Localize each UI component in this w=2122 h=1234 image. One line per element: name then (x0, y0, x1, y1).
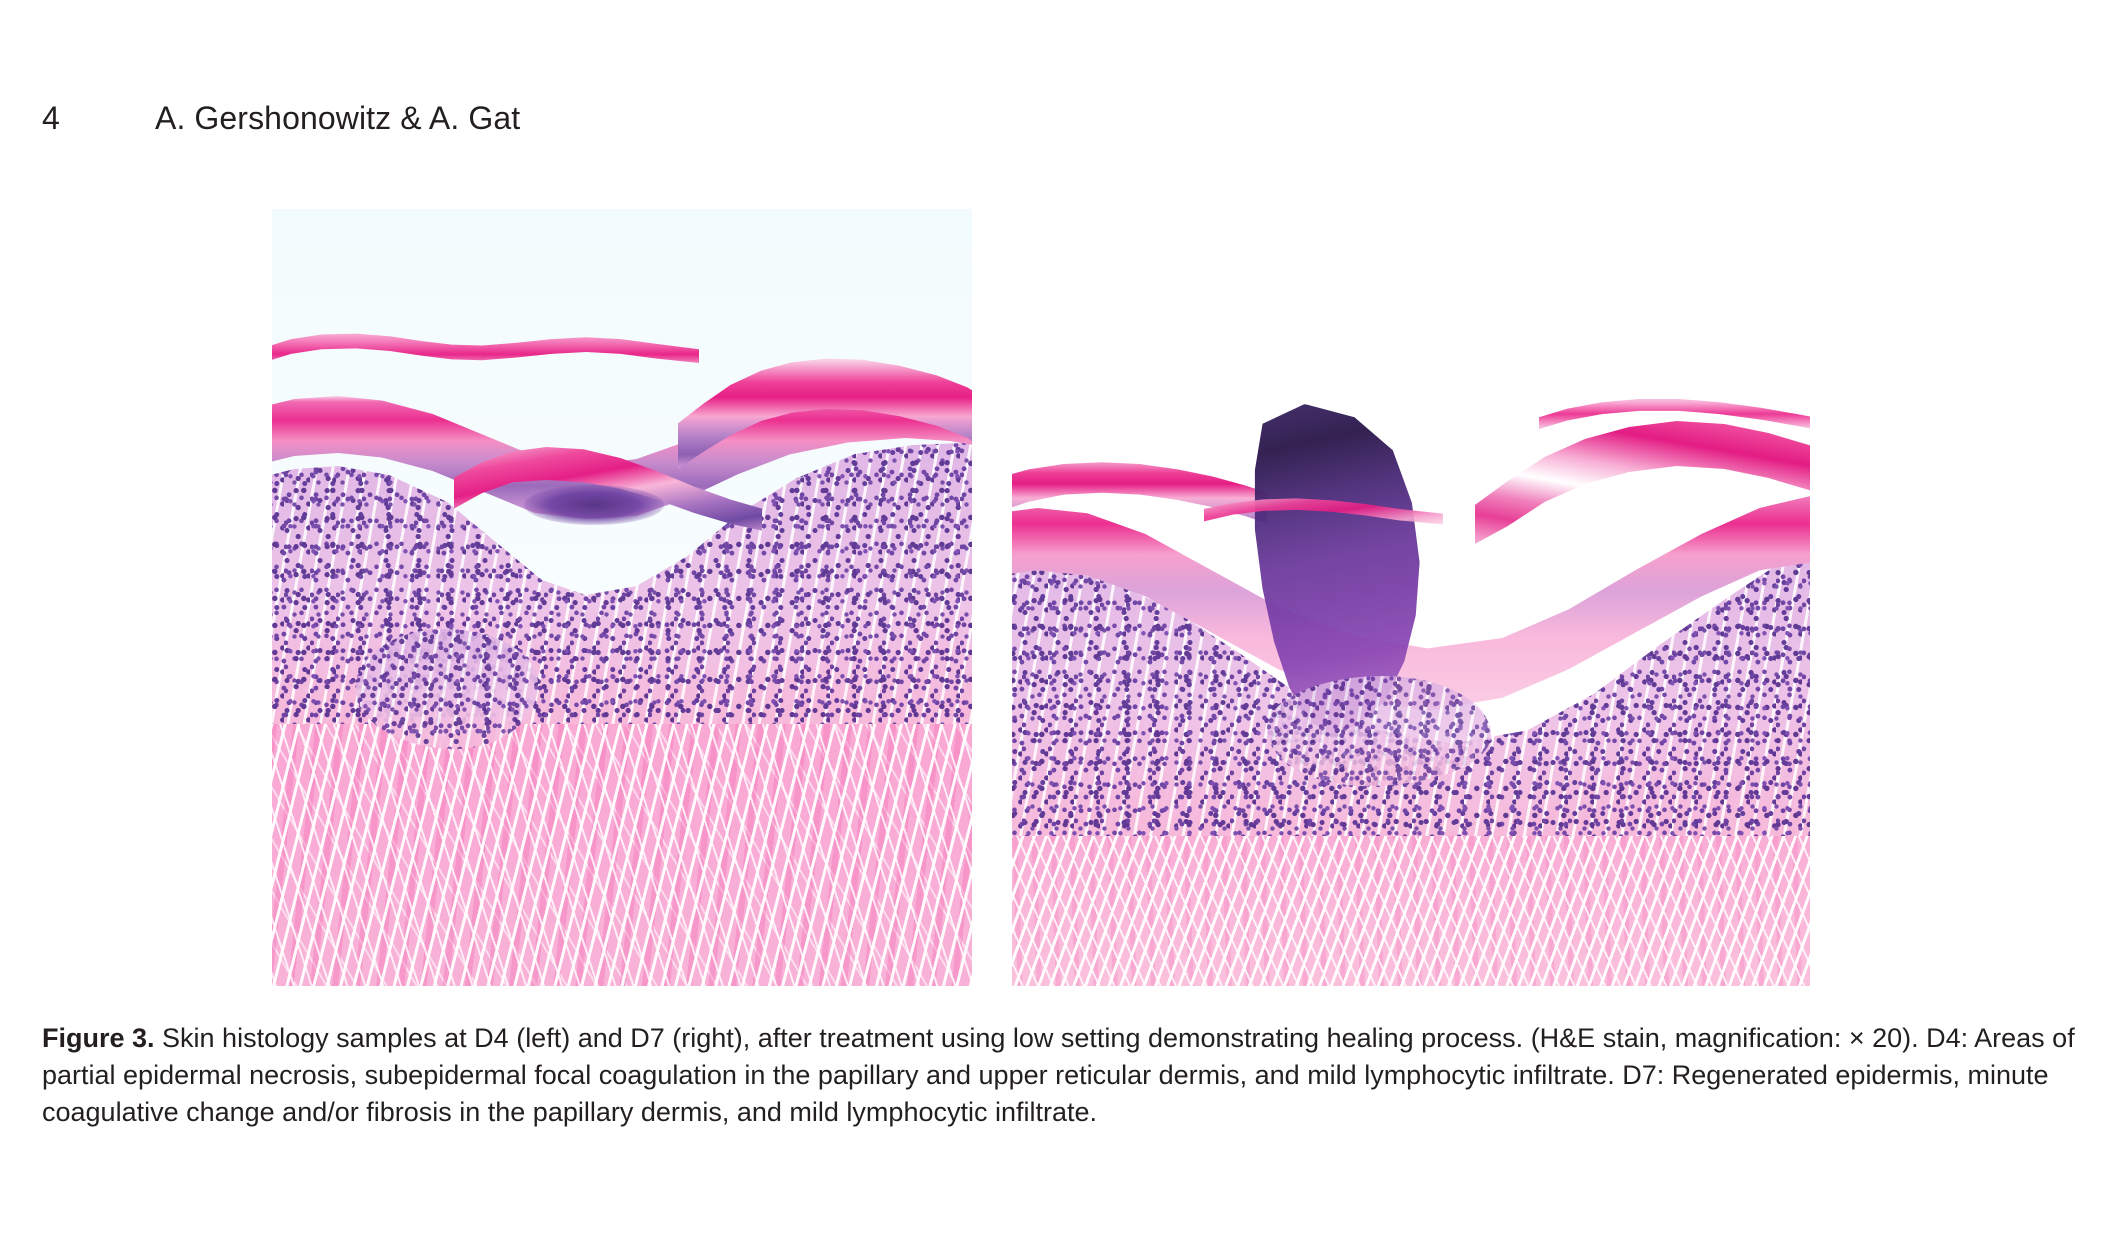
histology-image-d7 (1012, 386, 1810, 986)
focal-infiltrate-nodule-right (1267, 676, 1490, 786)
histology-image-d4 (272, 209, 972, 986)
slide-right (1012, 386, 1810, 986)
slide-left (272, 209, 972, 986)
figure-caption-label: Figure 3. (42, 1023, 155, 1053)
basal-cell-nest-left (524, 485, 664, 525)
figure-caption-text: Skin histology samples at D4 (left) and … (42, 1023, 2075, 1127)
figure-caption: Figure 3. Skin histology samples at D4 (… (42, 1020, 2082, 1131)
figure-3 (0, 0, 2122, 1000)
document-page: 4 A. Gershonowitz & A. Gat (0, 0, 2122, 1234)
